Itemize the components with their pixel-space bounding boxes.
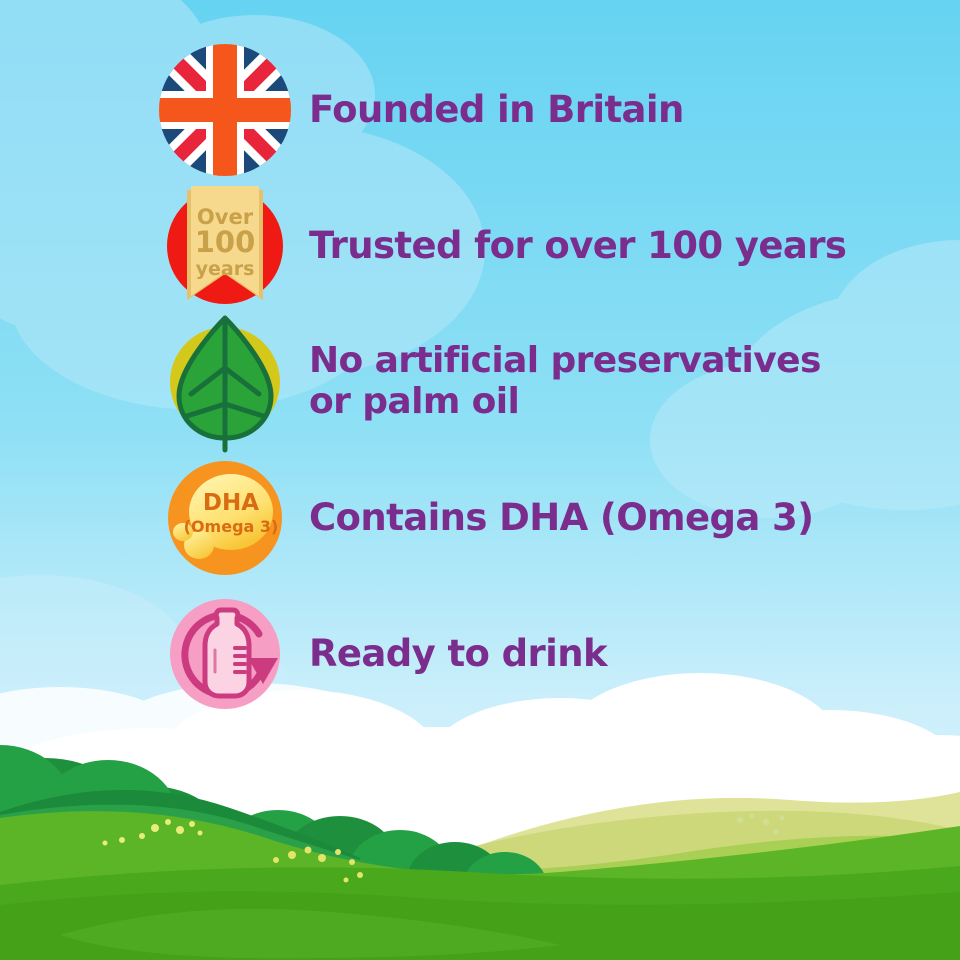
leaf-icon <box>155 312 295 452</box>
badge-line-3: years <box>196 258 255 280</box>
feature-row[interactable]: Ready to drink <box>155 586 945 722</box>
feature-label: Trusted for over 100 years <box>309 225 846 267</box>
feature-row[interactable]: Over 100 years Trusted for over 100 year… <box>155 178 945 314</box>
feature-label: No artificial preservatives or palm oil <box>309 341 821 422</box>
feature-label: Founded in Britain <box>309 89 684 131</box>
feature-label: Contains DHA (Omega 3) <box>309 497 814 539</box>
ribbon-banner-icon: Over 100 years <box>155 176 295 316</box>
badge-line-2: (Omega 3) <box>184 517 279 536</box>
badge-line-1: DHA <box>203 490 259 516</box>
feature-row[interactable]: Founded in Britain <box>155 42 945 178</box>
baby-bottle-refresh-icon <box>155 584 295 724</box>
badge-line-2: 100 <box>195 225 256 259</box>
feature-label: Ready to drink <box>309 633 607 675</box>
feature-list: Founded in Britain Over 100 years Truste… <box>0 0 960 960</box>
feature-row[interactable]: DHA (Omega 3) Contains DHA (Omega 3) <box>155 450 945 586</box>
feature-row[interactable]: No artificial preservatives or palm oil <box>155 314 945 450</box>
union-jack-flag-icon <box>155 40 295 180</box>
oil-droplet-icon: DHA (Omega 3) <box>155 448 295 588</box>
poster-canvas: Founded in Britain Over 100 years Truste… <box>0 0 960 960</box>
